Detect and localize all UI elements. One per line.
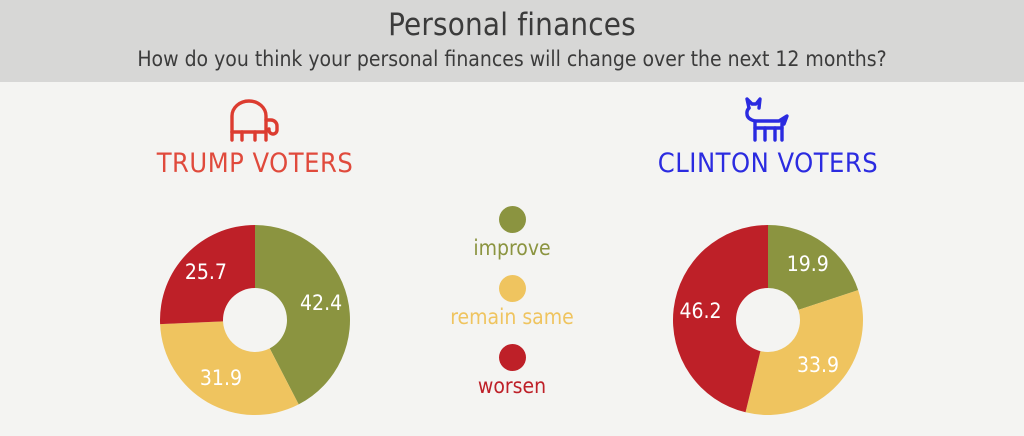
legend-item-remain-same: remain same	[412, 275, 612, 330]
legend-item-worsen: worsen	[412, 344, 612, 399]
page-title: Personal finances	[0, 0, 1024, 44]
panel-trump-voters: TRUMP VOTERS 42.431.925.7	[90, 96, 420, 180]
slice-value-label: 19.9	[787, 252, 829, 276]
party-label-trump: TRUMP VOTERS	[90, 142, 420, 180]
donut-chart-clinton: 19.933.946.2	[603, 210, 933, 430]
slice-value-label: 25.7	[185, 260, 227, 284]
circle-swatch-icon	[499, 344, 526, 371]
circle-swatch-icon	[499, 275, 526, 302]
slice-value-label: 33.9	[797, 353, 839, 377]
party-label-clinton: CLINTON VOTERS	[603, 142, 933, 180]
page-subtitle: How do you think your personal finances …	[0, 44, 1024, 72]
circle-swatch-icon	[499, 206, 526, 233]
header-band: Personal finances How do you think your …	[0, 0, 1024, 82]
legend-item-label: improve	[412, 235, 612, 261]
donut-chart-trump: 42.431.925.7	[90, 210, 420, 430]
panel-clinton-voters: CLINTON VOTERS 19.933.946.2	[603, 96, 933, 180]
legend-item-improve: improve	[412, 206, 612, 261]
infographic-root: Personal finances How do you think your …	[0, 0, 1024, 436]
slice-value-label: 46.2	[679, 299, 721, 323]
legend-item-label: remain same	[412, 304, 612, 330]
donkey-icon	[737, 96, 799, 142]
legend-item-label: worsen	[412, 373, 612, 399]
slice-value-label: 31.9	[200, 366, 242, 390]
elephant-icon	[224, 96, 286, 142]
slice-value-label: 42.4	[300, 291, 342, 315]
chart-legend: improve remain same worsen	[412, 206, 612, 413]
